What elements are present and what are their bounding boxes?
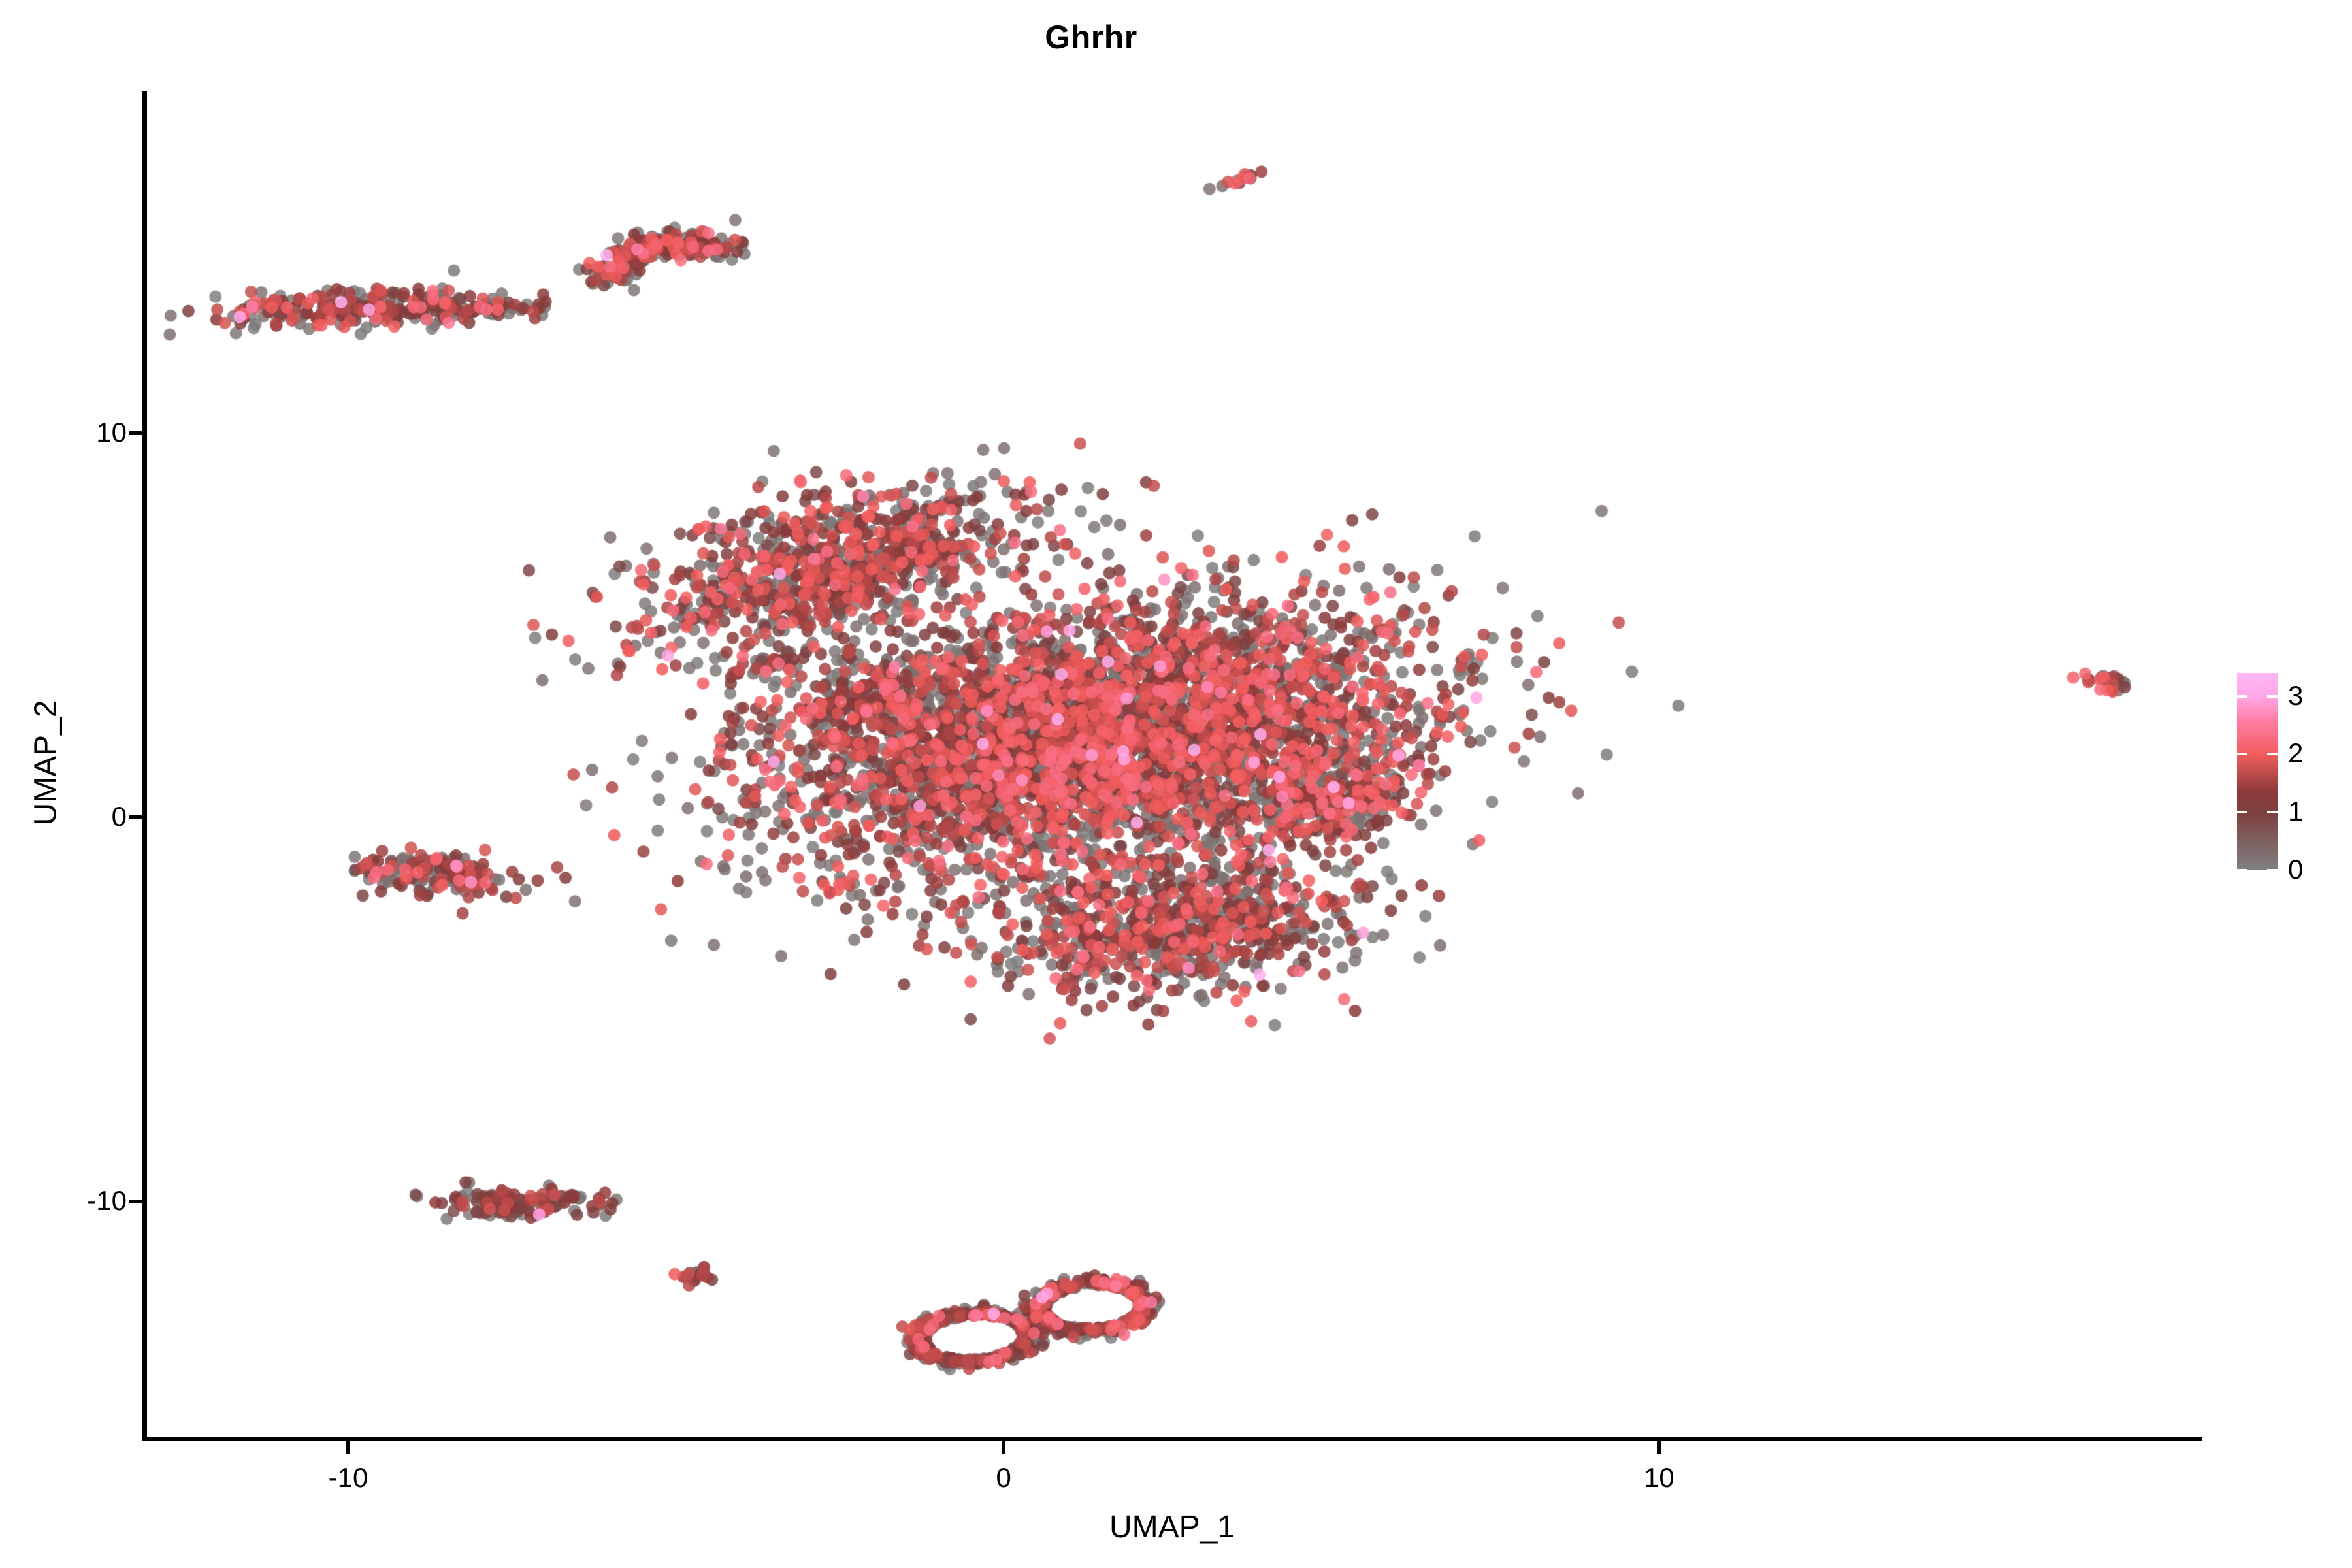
legend-tick-label: 0 [2288,856,2303,883]
plot-panel [145,91,2203,1439]
legend-tick-label: 3 [2288,682,2303,710]
y-tick-mark [129,1200,142,1203]
x-tick-label: 0 [925,1462,1082,1494]
x-tick-mark [346,1441,350,1454]
legend-colorbar[interactable] [2237,673,2278,870]
y-tick-label: 10 [96,417,127,448]
y-axis-line [142,91,147,1441]
umap-feature-plot: Ghrhr -10010 -10010 UMAP_1 UMAP_2 0123 [0,0,2352,1568]
y-tick-label: -10 [87,1185,127,1217]
x-tick-label: 10 [1580,1462,1737,1494]
legend-tick-label: 1 [2288,798,2303,825]
y-tick-label: 0 [112,801,127,832]
x-axis-line [142,1437,2202,1441]
color-legend[interactable]: 0123 [2237,673,2342,870]
x-axis-title: UMAP_1 [142,1509,2202,1545]
x-tick-mark [1657,1441,1661,1454]
x-tick-label: -10 [270,1462,427,1494]
y-tick-mark [129,431,142,435]
page-title: Ghrhr [0,18,2182,56]
y-tick-mark [129,815,142,819]
scatter-point-layer [145,91,2203,1439]
legend-tick-label: 2 [2288,740,2303,767]
y-axis-title: UMAP_2 [28,502,64,1024]
x-tick-mark [1002,1441,1005,1454]
